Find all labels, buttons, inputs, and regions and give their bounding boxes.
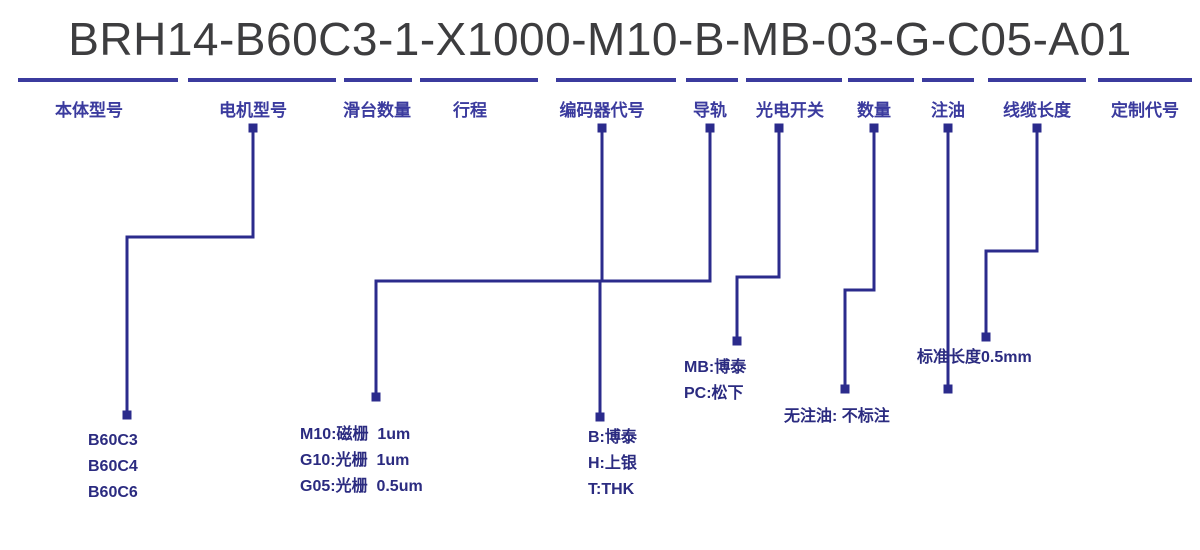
segment-underline-oil_injection (922, 78, 974, 82)
segment-underline-body_model (18, 78, 178, 82)
option-line: G10:光栅 1um (300, 448, 423, 474)
leader-marker-top-motor_model (249, 124, 258, 133)
leader-path-photo_switch (737, 128, 779, 341)
option-block-photo_switch_options: MB:博泰PC:松下 (684, 355, 746, 407)
model-number-title: BRH14-B60C3-1-X1000-M10-B-MB-03-G-C05-A0… (0, 12, 1200, 66)
segment-underline-photo_switch (746, 78, 842, 82)
option-line: B60C3 (88, 428, 138, 454)
leader-marker-bottom-photo_switch (733, 337, 742, 346)
option-block-body_model_options: B60C3B60C4B60C6 (88, 428, 138, 506)
option-line: 无注油: 不标注 (784, 404, 890, 430)
leader-line-photo_switch (733, 124, 784, 346)
leader-marker-bottom-motor_model (123, 411, 132, 420)
segment-underline-guide_rail (686, 78, 738, 82)
leader-path-cable_length (986, 128, 1037, 337)
leader-marker-top-photo_switch (775, 124, 784, 133)
leader-line-encoder_code (372, 124, 607, 402)
leader-path-quantity (845, 128, 874, 389)
leader-marker-top-encoder_code (598, 124, 607, 133)
leader-line-motor_model (123, 124, 258, 420)
leader-marker-bottom-cable_length (982, 333, 991, 342)
segment-underline-encoder_code (556, 78, 676, 82)
option-line: M10:磁栅 1um (300, 422, 423, 448)
leader-marker-bottom-quantity (841, 385, 850, 394)
segment-underline-quantity (848, 78, 914, 82)
option-line: 标准长度0.5mm (917, 345, 1032, 371)
option-block-encoder_options: M10:磁栅 1umG10:光栅 1umG05:光栅 0.5um (300, 422, 423, 500)
option-block-cable_length_options: 标准长度0.5mm (917, 345, 1032, 371)
leader-marker-bottom-guide_rail (596, 413, 605, 422)
leader-marker-bottom-oil_injection (944, 385, 953, 394)
leader-marker-top-guide_rail (706, 124, 715, 133)
option-line: G05:光栅 0.5um (300, 474, 423, 500)
leader-line-quantity (841, 124, 879, 394)
option-block-oil_injection_options: 无注油: 不标注 (784, 404, 890, 430)
option-block-guide_rail_options: B:博泰H:上银T:THK (588, 425, 637, 503)
option-line: PC:松下 (684, 381, 746, 407)
option-line: H:上银 (588, 451, 637, 477)
segment-underline-motor_model (188, 78, 336, 82)
option-line: T:THK (588, 477, 637, 503)
leader-marker-top-quantity (870, 124, 879, 133)
category-label-custom_code: 定制代号 (1045, 96, 1200, 121)
segment-underline-slide_count (344, 78, 412, 82)
leader-path-encoder_code (376, 128, 602, 397)
segment-underline-custom_code (1098, 78, 1192, 82)
segment-underline-stroke (420, 78, 538, 82)
leader-line-cable_length (982, 124, 1042, 342)
option-line: MB:博泰 (684, 355, 746, 381)
leader-path-motor_model (127, 128, 253, 415)
option-line: B60C4 (88, 454, 138, 480)
model-number-breakdown-diagram: BRH14-B60C3-1-X1000-M10-B-MB-03-G-C05-A0… (0, 0, 1200, 550)
option-line: B60C6 (88, 480, 138, 506)
option-line: B:博泰 (588, 425, 637, 451)
leader-marker-top-oil_injection (944, 124, 953, 133)
segment-underline-cable_length (988, 78, 1086, 82)
leader-marker-bottom-encoder_code (372, 393, 381, 402)
leader-marker-top-cable_length (1033, 124, 1042, 133)
